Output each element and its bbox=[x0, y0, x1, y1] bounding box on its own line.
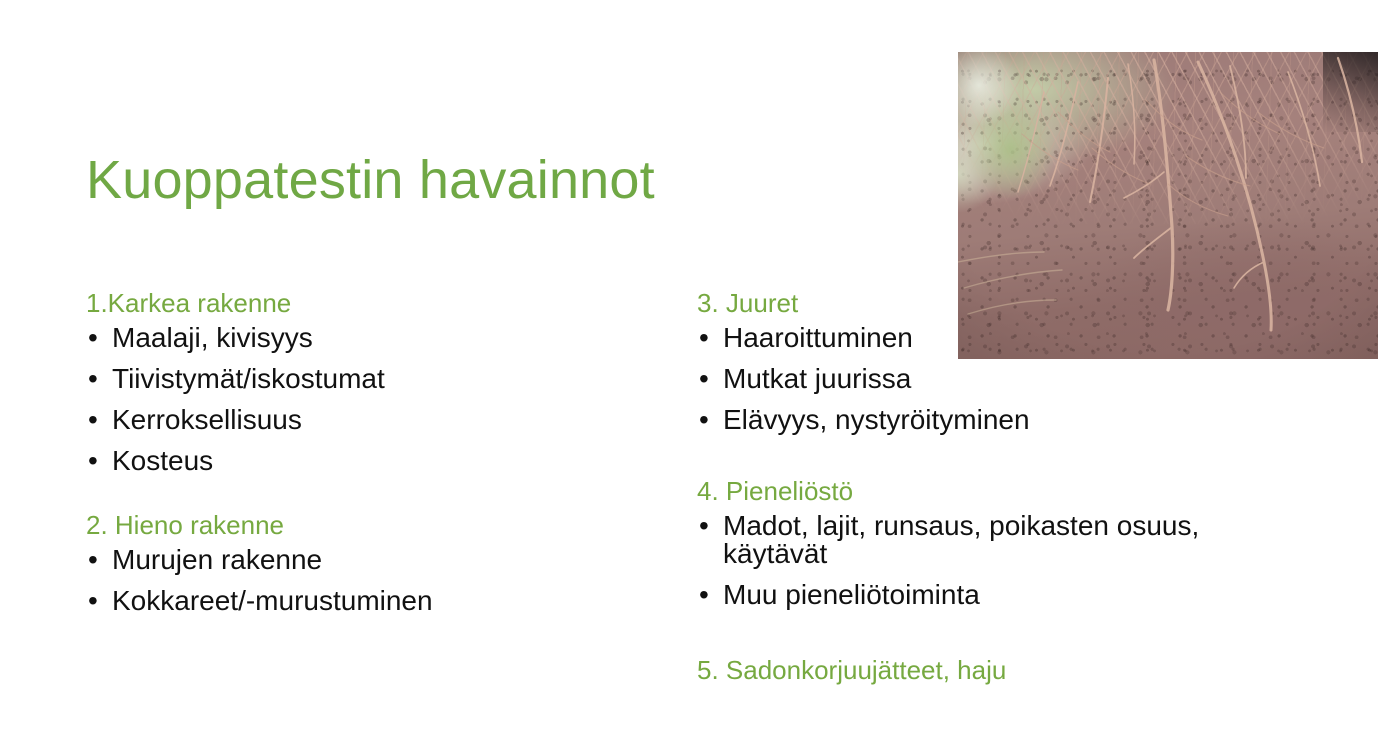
list-item: Madot, lajit, runsaus, poikasten osuus, … bbox=[697, 512, 1297, 568]
soil-profile-photo bbox=[958, 52, 1378, 359]
presentation-slide: Kuoppatestin havainnot 1.Karkea rakenne … bbox=[0, 0, 1378, 734]
section-heading-hieno-rakenne: 2. Hieno rakenne bbox=[86, 508, 646, 543]
list-item: Kokkareet/-murustuminen bbox=[86, 587, 646, 615]
page-title: Kuoppatestin havainnot bbox=[86, 149, 906, 211]
section-hieno-rakenne: 2. Hieno rakenne Murujen rakenne Kokkare… bbox=[86, 508, 646, 615]
photo-vignette bbox=[958, 52, 1378, 359]
section-heading-sadonkorjuujatteet: 5. Sadonkorjuujätteet, haju bbox=[697, 653, 1297, 688]
bullet-list-pieneliosto: Madot, lajit, runsaus, poikasten osuus, … bbox=[697, 512, 1297, 609]
list-item: Tiivistymät/iskostumat bbox=[86, 365, 646, 393]
list-item: Mutkat juurissa bbox=[697, 365, 1297, 393]
list-item: Kerroksellisuus bbox=[86, 406, 646, 434]
bullet-list-hieno-rakenne: Murujen rakenne Kokkareet/-murustuminen bbox=[86, 546, 646, 615]
section-sadonkorjuujatteet: 5. Sadonkorjuujätteet, haju bbox=[697, 653, 1297, 688]
left-content-column: 1.Karkea rakenne Maalaji, kivisyys Tiivi… bbox=[86, 286, 646, 615]
bullet-list-karkea-rakenne: Maalaji, kivisyys Tiivistymät/iskostumat… bbox=[86, 324, 646, 475]
section-heading-pieneliosto: 4. Pieneliöstö bbox=[697, 474, 1297, 509]
section-karkea-rakenne: 1.Karkea rakenne Maalaji, kivisyys Tiivi… bbox=[86, 286, 646, 475]
list-item: Elävyys, nystyröityminen bbox=[697, 406, 1297, 434]
list-item: Maalaji, kivisyys bbox=[86, 324, 646, 352]
list-item: Muu pieneliötoiminta bbox=[697, 581, 1297, 609]
list-item: Murujen rakenne bbox=[86, 546, 646, 574]
section-pieneliosto: 4. Pieneliöstö Madot, lajit, runsaus, po… bbox=[697, 474, 1297, 609]
list-item: Kosteus bbox=[86, 447, 646, 475]
section-heading-karkea-rakenne: 1.Karkea rakenne bbox=[86, 286, 646, 321]
